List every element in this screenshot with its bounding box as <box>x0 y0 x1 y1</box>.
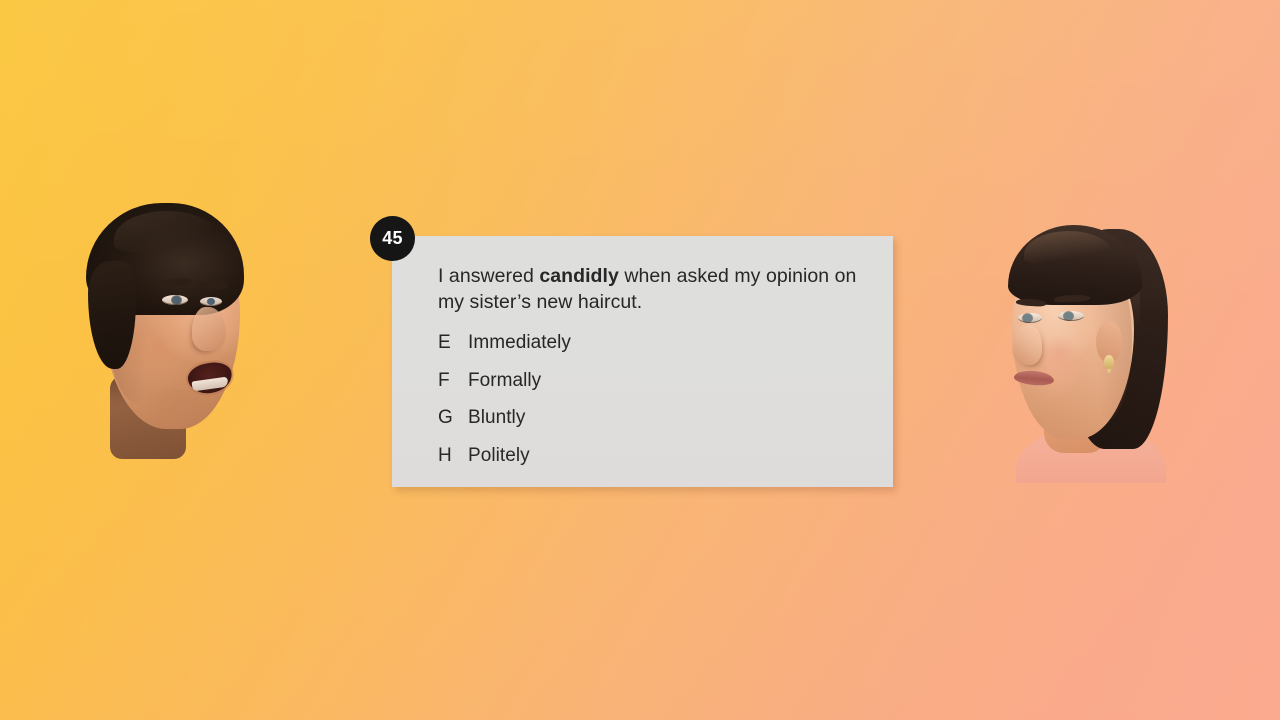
question-text: I answered candidly when asked my opinio… <box>438 264 870 315</box>
male-speaker-head <box>82 203 254 459</box>
answer-options-list: E Immediately F Formally G Bluntly H Pol… <box>438 332 875 482</box>
answer-option-g[interactable]: G Bluntly <box>438 407 875 445</box>
female-earring <box>1104 355 1114 369</box>
male-eye-left <box>162 295 188 305</box>
option-text-e: Immediately <box>468 332 571 354</box>
option-letter-f: F <box>438 370 468 392</box>
female-listener-head <box>992 213 1182 475</box>
male-eyebrow-right <box>198 280 228 289</box>
card-body: I answered candidly when asked my opinio… <box>438 264 875 482</box>
question-text-before: I answered <box>438 265 539 287</box>
option-letter-g: G <box>438 407 468 429</box>
female-nose <box>1012 325 1042 365</box>
option-text-f: Formally <box>468 370 541 392</box>
question-number: 45 <box>382 228 402 249</box>
option-letter-e: E <box>438 332 468 354</box>
male-eye-right <box>200 297 222 306</box>
answer-option-h[interactable]: H Politely <box>438 445 875 483</box>
quiz-question-card: 45 I answered candidly when asked my opi… <box>392 236 893 487</box>
option-text-h: Politely <box>468 445 530 467</box>
answer-option-f[interactable]: F Formally <box>438 370 875 408</box>
scene-background: 45 I answered candidly when asked my opi… <box>0 0 1280 720</box>
question-number-badge: 45 <box>370 216 415 261</box>
question-emphasis-word: candidly <box>539 265 619 287</box>
option-letter-h: H <box>438 445 468 467</box>
female-eye-right <box>1058 311 1084 321</box>
female-eye-left <box>1018 313 1042 323</box>
answer-option-e[interactable]: E Immediately <box>438 332 875 370</box>
option-text-g: Bluntly <box>468 407 525 429</box>
male-chin <box>144 389 216 431</box>
